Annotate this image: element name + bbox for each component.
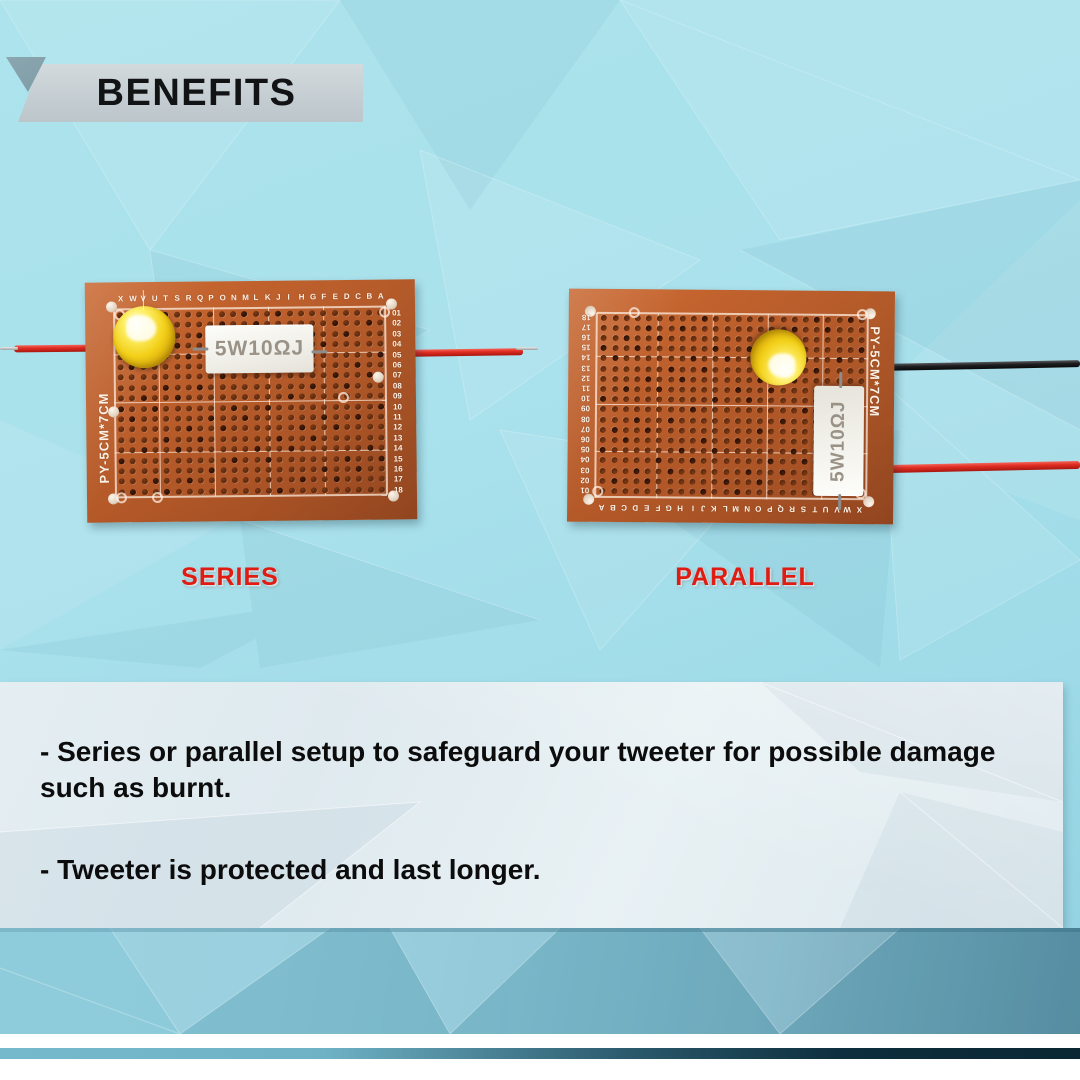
pcb-hole — [691, 325, 697, 331]
pcb-hole — [367, 455, 373, 461]
pcb-hole — [231, 405, 237, 411]
pcb-hole — [333, 424, 339, 430]
pcb-hole — [689, 468, 695, 474]
pcb-hole — [600, 427, 606, 433]
pcb-hole — [232, 478, 238, 484]
pcb-hole — [802, 439, 808, 445]
pcb-hole — [241, 311, 247, 317]
pcb-hole — [254, 477, 260, 483]
pcb-hole — [367, 403, 373, 409]
pcb-hole — [712, 468, 718, 474]
pcb-hole — [657, 335, 663, 341]
pcb-hole — [141, 458, 147, 464]
pcb-hole — [668, 366, 674, 372]
pcb-hole — [129, 416, 135, 422]
row-number: 12 — [581, 374, 590, 382]
column-letter: G — [665, 503, 671, 511]
pcb-hole — [836, 337, 842, 343]
pcb-hole — [118, 437, 124, 443]
pcb-hole — [612, 386, 618, 392]
pcb-hole — [656, 417, 662, 423]
pcb-hole — [300, 487, 306, 493]
pcb-hole — [645, 468, 651, 474]
pcb-hole — [803, 316, 809, 322]
row-number: 10 — [393, 403, 402, 411]
pcb-hole — [253, 373, 259, 379]
pcb-hole — [186, 426, 192, 432]
pcb-hole — [701, 377, 707, 383]
pcb-hole — [288, 435, 294, 441]
pcb-hole — [746, 397, 752, 403]
row-number: 17 — [394, 476, 403, 484]
pcb-hole — [859, 337, 865, 343]
pcb-hole — [322, 466, 328, 472]
pcb-hole — [163, 395, 169, 401]
pcb-hole — [724, 326, 730, 332]
pcb-hole — [746, 408, 752, 414]
row-number: 08 — [393, 382, 402, 390]
pcb-hole — [344, 404, 350, 410]
pcb-hole — [254, 467, 260, 473]
pcb-hole — [299, 456, 305, 462]
parallel-board[interactable]: XWVUTSRQPONMLKJIHGFEDCBA 010203040506070… — [567, 289, 895, 525]
pcb-hole — [243, 477, 249, 483]
pcb-hole — [656, 488, 662, 494]
pcb-hole — [678, 448, 684, 454]
row-number: 11 — [582, 384, 591, 392]
pcb-hole — [768, 438, 774, 444]
pcb-hole — [175, 478, 181, 484]
pcb-hole — [367, 466, 373, 472]
pcb-hole — [163, 405, 169, 411]
pcb-hole — [667, 448, 673, 454]
series-board-code: PY-5CM*7CM — [96, 393, 112, 484]
pcb-hole — [734, 458, 740, 464]
pcb-hole — [713, 356, 719, 362]
pcb-hole — [825, 316, 831, 322]
pcb-hole — [334, 487, 340, 493]
pcb-hole — [197, 436, 203, 442]
column-letter: K — [711, 504, 717, 512]
pcb-hole — [356, 476, 362, 482]
pcb-hole — [858, 368, 864, 374]
column-letter: S — [801, 505, 806, 513]
pcb-hole — [366, 341, 372, 347]
pcb-hole — [657, 366, 663, 372]
pcb-hole — [197, 405, 203, 411]
pcb-hole — [299, 394, 305, 400]
pcb-hole — [322, 414, 328, 420]
pcb-hole — [612, 376, 618, 382]
column-letter: Q — [777, 504, 783, 512]
pcb-hole — [175, 447, 181, 453]
pcb-hole — [130, 458, 136, 464]
pcb-hole — [791, 428, 797, 434]
pcb-hole — [814, 316, 820, 322]
pcb-hole — [690, 438, 696, 444]
column-letter: X — [118, 295, 123, 303]
pcb-hole — [185, 332, 191, 338]
footer-gap — [0, 1034, 1080, 1048]
pcb-hole — [220, 384, 226, 390]
pcb-hole — [601, 314, 607, 320]
pcb-hole — [633, 468, 639, 474]
pcb-hole — [185, 343, 191, 349]
pcb-hole — [667, 437, 673, 443]
pcb-hole — [140, 374, 146, 380]
pcb-hole — [332, 310, 338, 316]
pcb-hole — [657, 325, 663, 331]
series-board[interactable]: XWVUTSRQPONMLKJIHGFEDCBA 010203040506070… — [85, 279, 417, 522]
pcb-hole — [366, 362, 372, 368]
pcb-hole — [254, 425, 260, 431]
pcb-hole — [277, 467, 283, 473]
pcb-hole — [220, 415, 226, 421]
pcb-hole — [690, 397, 696, 403]
pcb-hole — [265, 436, 271, 442]
pcb-hole — [701, 479, 707, 485]
pcb-hole — [747, 326, 753, 332]
pcb-hole — [612, 345, 618, 351]
pcb-hole — [277, 487, 283, 493]
pcb-hole — [802, 398, 808, 404]
column-letter: F — [321, 293, 326, 301]
pcb-hole — [197, 395, 203, 401]
pcb-hole — [299, 466, 305, 472]
pcb-hole — [825, 347, 831, 353]
pcb-hole — [623, 427, 629, 433]
pcb-hole — [310, 394, 316, 400]
pcb-hole — [769, 387, 775, 393]
pcb-hole — [634, 396, 640, 402]
pcb-hole — [242, 394, 248, 400]
pcb-hole — [601, 335, 607, 341]
pcb-hole — [634, 345, 640, 351]
pcb-hole — [679, 417, 685, 423]
pcb-hole — [141, 478, 147, 484]
pcb-hole — [690, 366, 696, 372]
pcb-hole — [623, 325, 629, 331]
row-number: 06 — [393, 361, 402, 369]
pcb-hole — [152, 426, 158, 432]
pcb-hole — [321, 404, 327, 410]
pcb-hole — [321, 341, 327, 347]
pcb-hole — [343, 352, 349, 358]
pcb-hole — [276, 415, 282, 421]
row-number: 18 — [394, 486, 403, 494]
pcb-hole — [231, 426, 237, 432]
pcb-hole — [377, 341, 383, 347]
pcb-hole — [668, 397, 674, 403]
column-letter: P — [208, 294, 213, 302]
pcb-hole — [142, 489, 148, 495]
pcb-hole — [768, 469, 774, 475]
pcb-hole — [813, 378, 819, 384]
pcb-hole — [633, 488, 639, 494]
row-number: 11 — [393, 413, 402, 421]
pcb-hole — [322, 435, 328, 441]
pcb-hole — [848, 317, 854, 323]
pcb-hole — [299, 435, 305, 441]
pcb-hole — [119, 479, 125, 485]
pcb-hole — [253, 311, 259, 317]
pcb-hole — [197, 416, 203, 422]
pcb-hole — [129, 395, 135, 401]
pcb-hole — [679, 427, 685, 433]
pcb-hole — [141, 437, 147, 443]
column-letter: D — [632, 503, 638, 511]
pcb-hole — [712, 407, 718, 413]
pcb-hole — [355, 362, 361, 368]
pcb-hole — [344, 383, 350, 389]
pcb-hole — [118, 364, 124, 370]
pcb-hole — [118, 396, 124, 402]
pcb-hole — [690, 376, 696, 382]
pcb-hole — [343, 310, 349, 316]
pcb-hole — [735, 367, 741, 373]
column-letter: W — [129, 295, 137, 303]
pcb-hole — [645, 407, 651, 413]
pcb-hole — [287, 311, 293, 317]
pcb-hole — [377, 351, 383, 357]
pcb-hole — [735, 326, 741, 332]
pcb-hole — [186, 384, 192, 390]
pcb-hole — [379, 476, 385, 482]
row-number: 08 — [581, 414, 590, 422]
pcb-hole — [723, 428, 729, 434]
pcb-hole — [253, 384, 259, 390]
pcb-hole — [186, 374, 192, 380]
pcb-hole — [622, 488, 628, 494]
pcb-hole — [779, 459, 785, 465]
pcb-hole — [611, 468, 617, 474]
pcb-hole — [723, 418, 729, 424]
pcb-hole — [790, 439, 796, 445]
pcb-hole — [129, 375, 135, 381]
parallel-capacitor — [750, 329, 806, 385]
pcb-hole — [801, 459, 807, 465]
pcb-hole — [232, 457, 238, 463]
pcb-hole — [378, 455, 384, 461]
pcb-hole — [311, 456, 317, 462]
pcb-hole — [801, 490, 807, 496]
pcb-hole — [345, 487, 351, 493]
pcb-hole — [367, 424, 373, 430]
pcb-hole — [791, 388, 797, 394]
pcb-hole — [321, 393, 327, 399]
pcb-hole — [814, 357, 820, 363]
pcb-hole — [623, 406, 629, 412]
pcb-hole — [355, 383, 361, 389]
pcb-hole — [333, 435, 339, 441]
pcb-hole — [657, 315, 663, 321]
pcb-hole — [266, 467, 272, 473]
pcb-hole — [345, 456, 351, 462]
pcb-hole — [276, 404, 282, 410]
pcb-hole — [277, 456, 283, 462]
pcb-hole — [633, 478, 639, 484]
pcb-hole — [668, 356, 674, 362]
pcb-hole — [847, 347, 853, 353]
pcb-hole — [174, 385, 180, 391]
pcb-hole — [622, 457, 628, 463]
row-number: 05 — [581, 445, 590, 453]
row-number: 15 — [582, 343, 591, 351]
pcb-hole — [612, 315, 618, 321]
series-resistor: 5W10ΩJ — [205, 324, 313, 373]
pcb-hole — [736, 316, 742, 322]
pcb-hole — [355, 341, 361, 347]
pcb-hole — [611, 488, 617, 494]
pcb-hole — [645, 386, 651, 392]
pcb-hole — [678, 478, 684, 484]
column-letter: U — [152, 295, 158, 303]
pcb-hole — [657, 386, 663, 392]
column-letter: K — [265, 294, 271, 302]
pcb-hole — [701, 438, 707, 444]
footer-base — [0, 1059, 1080, 1080]
pcb-hole — [276, 425, 282, 431]
pcb-hole — [713, 346, 719, 352]
row-number: 18 — [582, 312, 591, 320]
column-letter: T — [163, 295, 168, 303]
pcb-hole — [321, 362, 327, 368]
pcb-hole — [836, 347, 842, 353]
pcb-hole — [746, 448, 752, 454]
pcb-hole — [231, 384, 237, 390]
pcb-hole — [175, 489, 181, 495]
pcb-hole — [174, 353, 180, 359]
pcb-hole — [701, 397, 707, 403]
pcb-hole — [645, 447, 651, 453]
pcb-hole — [735, 356, 741, 362]
pcb-hole — [242, 384, 248, 390]
pcb-hole — [612, 325, 618, 331]
pcb-hole — [757, 469, 763, 475]
pcb-hole — [668, 335, 674, 341]
pcb-hole — [152, 374, 158, 380]
pcb-hole — [600, 447, 606, 453]
pcb-hole — [656, 478, 662, 484]
pcb-hole — [186, 436, 192, 442]
pcb-hole — [825, 378, 831, 384]
pcb-hole — [612, 335, 618, 341]
pcb-hole — [623, 417, 629, 423]
pcb-hole — [779, 469, 785, 475]
pcb-hole — [310, 435, 316, 441]
pcb-hole — [645, 437, 651, 443]
pcb-hole — [735, 418, 741, 424]
pcb-hole — [175, 405, 181, 411]
pcb-hole — [377, 320, 383, 326]
series-label: SERIES — [130, 563, 330, 592]
pcb-hole — [367, 445, 373, 451]
pcb-hole — [333, 404, 339, 410]
column-letter: F — [656, 503, 661, 511]
pcb-hole — [377, 362, 383, 368]
pcb-hole — [243, 425, 249, 431]
pcb-hole — [186, 447, 192, 453]
pcb-hole — [164, 489, 170, 495]
pcb-hole — [847, 368, 853, 374]
pcb-hole — [623, 376, 629, 382]
pcb-hole — [378, 393, 384, 399]
pcb-hole — [691, 315, 697, 321]
pcb-hole — [221, 488, 227, 494]
pcb-hole — [343, 320, 349, 326]
pcb-hole — [656, 437, 662, 443]
row-number: 14 — [393, 445, 402, 453]
pcb-hole — [645, 417, 651, 423]
pcb-hole — [678, 489, 684, 495]
column-letter: R — [186, 295, 192, 303]
pcb-hole — [802, 428, 808, 434]
pcb-hole — [242, 373, 248, 379]
pcb-hole — [355, 403, 361, 409]
pcb-hole — [768, 428, 774, 434]
pcb-hole — [645, 396, 651, 402]
pcb-hole — [174, 364, 180, 370]
pcb-hole — [343, 331, 349, 337]
pcb-hole — [623, 386, 629, 392]
pcb-hole — [634, 427, 640, 433]
pcb-hole — [634, 356, 640, 362]
pcb-hole — [354, 310, 360, 316]
pcb-hole — [299, 373, 305, 379]
pcb-hole — [343, 341, 349, 347]
pcb-hole — [288, 425, 294, 431]
pcb-hole — [779, 479, 785, 485]
pcb-hole — [690, 448, 696, 454]
row-number: 10 — [581, 394, 590, 402]
pcb-hole — [713, 387, 719, 393]
pcb-hole — [745, 459, 751, 465]
pcb-hole — [623, 396, 629, 402]
pcb-hole — [734, 479, 740, 485]
pcb-hole — [701, 458, 707, 464]
column-letter: E — [644, 503, 649, 511]
pcb-hole — [611, 447, 617, 453]
pcb-hole — [723, 438, 729, 444]
column-letter: J — [701, 504, 706, 512]
pcb-hole — [378, 434, 384, 440]
pcb-hole — [175, 468, 181, 474]
pcb-hole — [667, 417, 673, 423]
pcb-hole — [802, 377, 808, 383]
pcb-hole — [333, 466, 339, 472]
pcb-hole — [713, 326, 719, 332]
pcb-hole — [745, 489, 751, 495]
pcb-hole — [333, 456, 339, 462]
pcb-hole — [667, 427, 673, 433]
pcb-hole — [623, 345, 629, 351]
column-letter: O — [755, 504, 761, 512]
pcb-hole — [690, 427, 696, 433]
pcb-hole — [141, 426, 147, 432]
pcb-hole — [130, 427, 136, 433]
pcb-hole — [622, 478, 628, 484]
pcb-hole — [691, 336, 697, 342]
pcb-hole — [322, 477, 328, 483]
pcb-hole — [231, 415, 237, 421]
pcb-hole — [724, 356, 730, 362]
pcb-hole — [679, 366, 685, 372]
pcb-hole — [366, 383, 372, 389]
pcb-hole — [779, 418, 785, 424]
pcb-hole — [152, 406, 158, 412]
row-number: 03 — [392, 330, 401, 338]
pcb-hole — [634, 386, 640, 392]
